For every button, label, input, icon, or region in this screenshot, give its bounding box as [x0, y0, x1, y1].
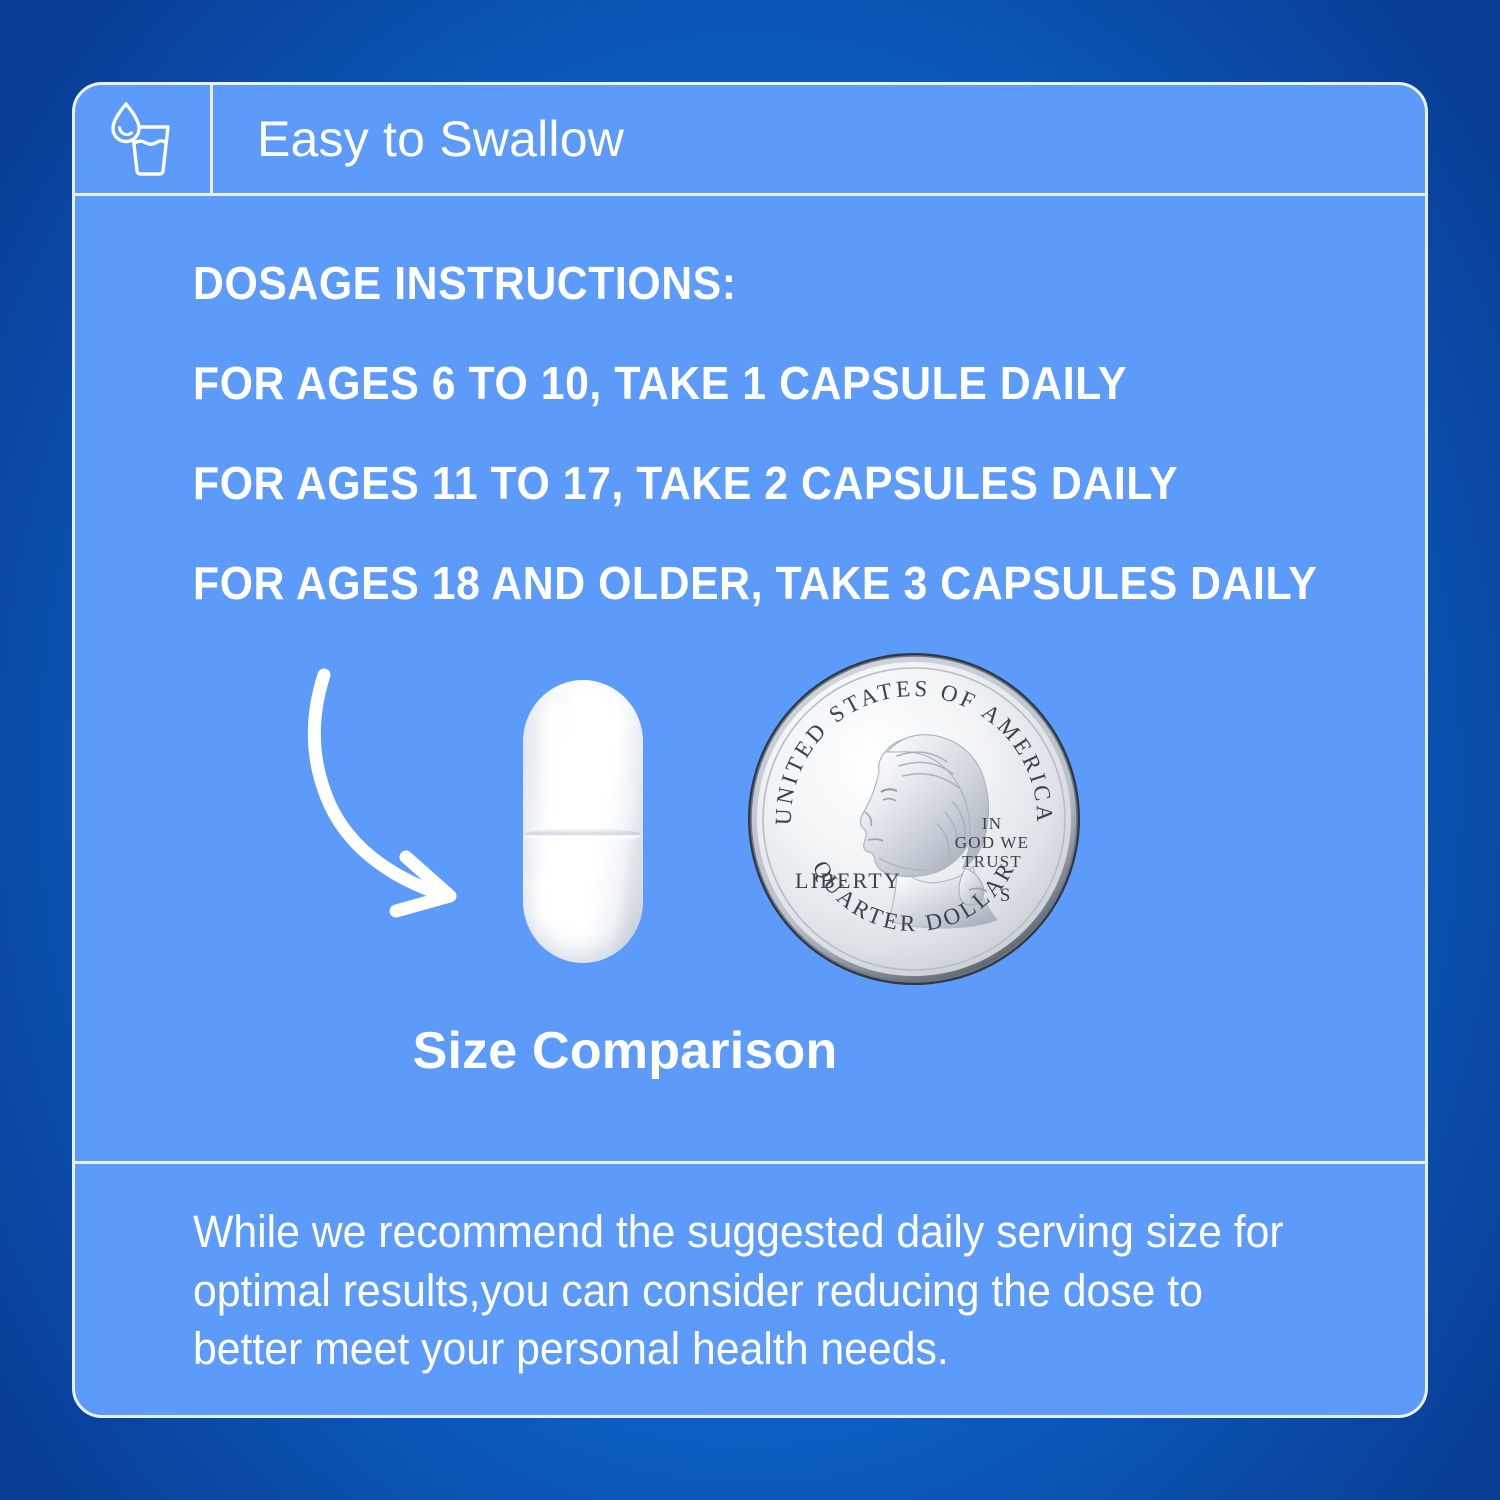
- curved-arrow-icon: [300, 665, 530, 925]
- arrow-wrap: [300, 665, 530, 925]
- size-comparison-block: UNITED STATES OF AMERICA QUARTER DOLLAR …: [75, 630, 1425, 1100]
- dosage-instructions-block: DOSAGE INSTRUCTIONS: FOR AGES 6 TO 10, T…: [193, 260, 1373, 606]
- dosage-line-2: FOR AGES 11 TO 17, TAKE 2 CAPSULES DAILY: [193, 460, 1290, 506]
- us-quarter-dollar-coin: UNITED STATES OF AMERICA QUARTER DOLLAR …: [747, 652, 1081, 986]
- dosage-heading: DOSAGE INSTRUCTIONS:: [193, 260, 1290, 306]
- card-header: Easy to Swallow: [75, 85, 1425, 193]
- header-title-cell: Easy to Swallow: [213, 85, 1425, 193]
- coin-motto-line-2: GOD WE: [955, 833, 1029, 852]
- info-card: Easy to Swallow DOSAGE INSTRUCTIONS: FOR…: [72, 82, 1428, 1418]
- header-icon-cell: [75, 85, 213, 193]
- white-capsule: [523, 680, 643, 963]
- footnote-text: While we recommend the suggested daily s…: [193, 1203, 1314, 1379]
- capsule-seam: [524, 828, 642, 842]
- dosage-line-3: FOR AGES 18 AND OLDER, TAKE 3 CAPSULES D…: [193, 560, 1290, 606]
- coin-liberty-legend: LIBERTY: [795, 868, 902, 893]
- coin-motto-line-1: IN: [982, 814, 1002, 833]
- coin-mint-mark: S: [1000, 885, 1011, 906]
- capsule-highlight: [543, 702, 569, 902]
- coin-motto-line-3: TRUST: [962, 852, 1022, 871]
- footer-divider: [75, 1161, 1425, 1164]
- header-divider: [75, 193, 1425, 196]
- dosage-line-1: FOR AGES 6 TO 10, TAKE 1 CAPSULE DAILY: [193, 360, 1290, 406]
- product-infographic: Easy to Swallow DOSAGE INSTRUCTIONS: FOR…: [0, 0, 1500, 1500]
- water-glass-with-droplet-icon: [106, 101, 180, 177]
- page-title: Easy to Swallow: [257, 114, 624, 164]
- size-comparison-caption: Size Comparison: [75, 1025, 1175, 1077]
